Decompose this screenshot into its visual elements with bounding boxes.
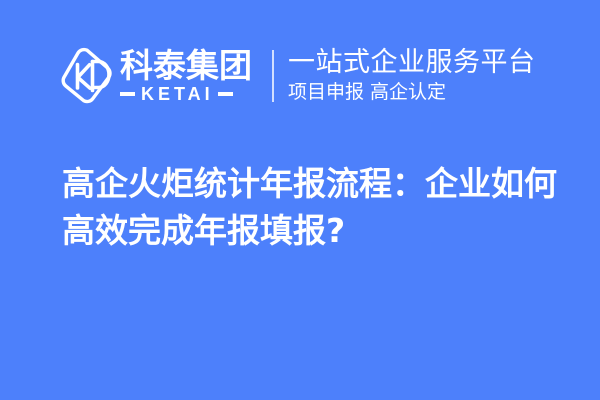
promo-banner: 科泰集团 KETAI 一站式企业服务平台 项目申报 高企认定 高企火炬统计年报流… — [0, 0, 600, 400]
dash-left-icon — [120, 92, 135, 96]
page-title: 高企火炬统计年报流程：企业如何高效完成年报填报? — [62, 160, 562, 254]
brand-bar: 科泰集团 KETAI 一站式企业服务平台 项目申报 高企认定 — [0, 40, 600, 112]
tagline-primary: 一站式企业服务平台 — [288, 48, 536, 78]
company-name-en: KETAI — [141, 85, 214, 103]
brand-divider — [272, 50, 274, 102]
brand-logo-block[interactable]: 科泰集团 KETAI — [60, 46, 252, 106]
brand-wordmark: 科泰集团 KETAI — [120, 49, 252, 103]
dash-right-icon — [218, 92, 233, 96]
ketai-logo-icon — [60, 46, 114, 106]
company-name-en-row: KETAI — [120, 85, 252, 103]
tagline-block: 一站式企业服务平台 项目申报 高企认定 — [288, 48, 536, 104]
company-name-cn: 科泰集团 — [120, 49, 252, 82]
tagline-secondary: 项目申报 高企认定 — [288, 82, 536, 104]
